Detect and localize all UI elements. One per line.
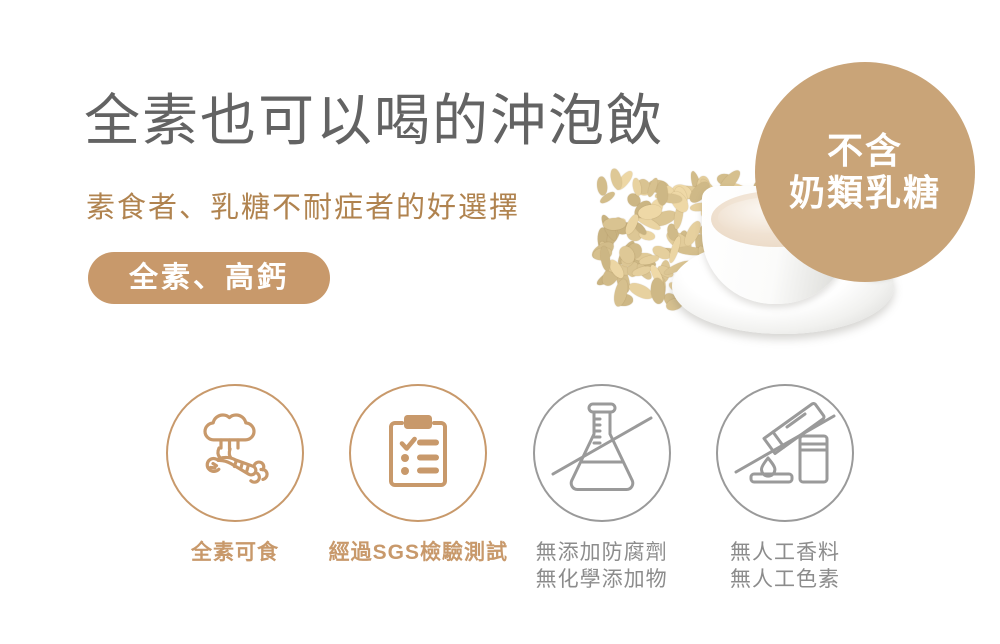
feature-item-sgs: 經過SGS檢驗測試 [333, 384, 503, 599]
feature-caption: 無人工香料 無人工色素 [730, 540, 840, 594]
feature-icon-circle [349, 384, 487, 522]
feature-caption: 無添加防腐劑 無化學添加物 [536, 540, 668, 594]
free-from-badge-line2: 奶類乳糖 [789, 172, 941, 214]
feature-icon-circle [533, 384, 671, 522]
promo-banner: 全素也可以喝的沖泡飲 素食者、乳糖不耐症者的好選擇 全素、高鈣 不含 奶類乳糖 [0, 0, 1000, 644]
feature-item-vegan: 全素可食 [150, 384, 320, 599]
feature-caption-line: 無添加防腐劑 [536, 540, 668, 567]
feature-list: 全素可食 [150, 384, 870, 599]
feature-item-no-artificial: 無人工香料 無人工色素 [700, 384, 870, 599]
page-title: 全素也可以喝的沖泡飲 [84, 92, 664, 152]
feature-caption: 經過SGS檢驗測試 [329, 540, 508, 567]
feature-caption-line: 全素可食 [191, 540, 279, 567]
feature-caption: 全素可食 [191, 540, 279, 567]
free-from-badge: 不含 奶類乳糖 [755, 62, 975, 282]
feature-icon-circle [166, 384, 304, 522]
hero-subtitle: 素食者、乳糖不耐症者的好選擇 [86, 184, 520, 226]
feature-caption-line: 無人工香料 [730, 540, 840, 567]
feature-icon-circle [716, 384, 854, 522]
feature-item-no-preservatives: 無添加防腐劑 無化學添加物 [517, 384, 687, 599]
vegetables-icon [183, 401, 287, 505]
hero-pill-label: 全素、高鈣 [129, 264, 289, 293]
no-flask-icon [537, 388, 667, 518]
free-from-badge-line1: 不含 [827, 130, 903, 172]
feature-caption-line: 無化學添加物 [536, 567, 668, 594]
feature-caption-line: 經過SGS檢驗測試 [329, 540, 508, 567]
feature-caption-line: 無人工色素 [730, 567, 840, 594]
no-additive-dropper-icon [720, 388, 850, 518]
clipboard-checklist-icon [366, 401, 470, 505]
hero-pill-badge: 全素、高鈣 [88, 252, 330, 304]
